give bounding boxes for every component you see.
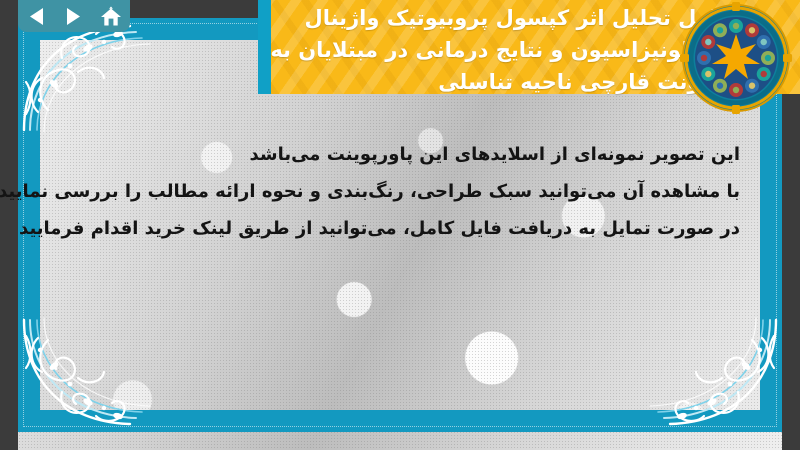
persian-medallion-ornament xyxy=(680,2,792,114)
arrow-right-icon xyxy=(65,7,82,26)
arrow-left-icon xyxy=(28,7,45,26)
title-line-3: عفونت قارچی ناحیه تناسلی xyxy=(250,66,730,98)
slide-body-text: این تصویر نمونه‌ای از اسلایدهای این پاور… xyxy=(60,136,760,247)
title-line-1: کامل تحلیل اثر کپسول پروبیوتیک واژینال xyxy=(250,2,730,34)
body-line-1: این تصویر نمونه‌ای از اسلایدهای این پاور… xyxy=(60,136,740,173)
previous-slide-button[interactable] xyxy=(24,4,50,28)
slide-navigation-bar xyxy=(18,0,130,32)
home-icon xyxy=(100,6,122,27)
body-line-2: با مشاهده آن می‌توانید سبک طراحی، رنگ‌بن… xyxy=(60,173,740,210)
slide-title: کامل تحلیل اثر کپسول پروبیوتیک واژینال ب… xyxy=(250,0,730,98)
next-slide-button[interactable] xyxy=(61,4,87,28)
title-line-2: بر کلونیزاسیون و نتایج درمانی در مبتلایا… xyxy=(250,34,730,66)
home-button[interactable] xyxy=(98,4,124,28)
body-line-3: در صورت تمایل به دریافت فایل کامل، می‌تو… xyxy=(60,210,740,247)
